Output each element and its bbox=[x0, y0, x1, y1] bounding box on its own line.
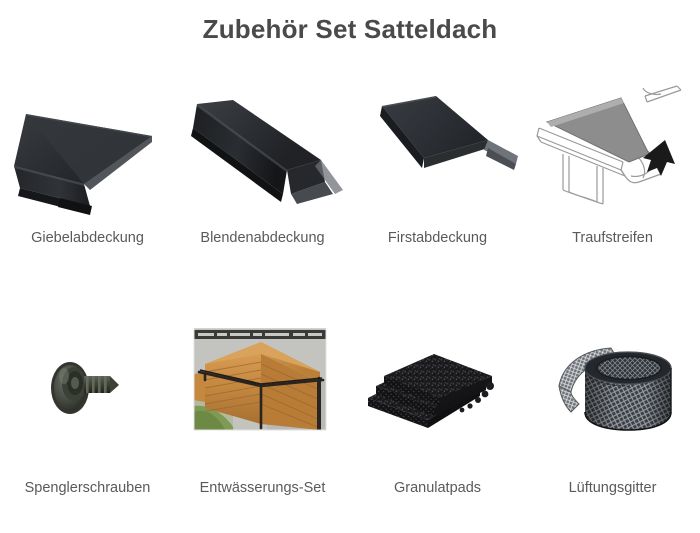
product-cell-traufstreifen[interactable]: Traufstreifen bbox=[525, 78, 700, 283]
product-cell-giebelabdeckung[interactable]: Giebelabdeckung bbox=[0, 78, 175, 283]
eaves-strip-diagram bbox=[525, 78, 700, 228]
product-cell-lueftungsgitter[interactable]: Lüftungsgitter bbox=[525, 328, 700, 533]
product-label: Traufstreifen bbox=[525, 230, 700, 246]
ventilation-grille-image bbox=[525, 328, 700, 478]
product-cell-granulatpads[interactable]: Granulatpads bbox=[350, 328, 525, 533]
product-label: Lüftungsgitter bbox=[525, 480, 700, 496]
product-grid: Giebelabdeckung bbox=[0, 78, 700, 518]
page-title: Zubehör Set Satteldach bbox=[0, 14, 700, 45]
ridge-cover-image bbox=[350, 78, 525, 228]
drainage-set-photo bbox=[175, 328, 350, 478]
product-label: Entwässerungs-Set bbox=[175, 480, 350, 496]
product-label: Blendenabdeckung bbox=[175, 230, 350, 246]
product-cell-spenglerschrauben[interactable]: Spenglerschrauben bbox=[0, 328, 175, 533]
roofing-screw-image bbox=[0, 328, 175, 478]
product-label: Giebelabdeckung bbox=[0, 230, 175, 246]
product-cell-entwaesserungs-set[interactable]: Entwässerungs-Set bbox=[175, 328, 350, 533]
fascia-cover-image bbox=[175, 78, 350, 228]
product-cell-firstabdeckung[interactable]: Firstabdeckung bbox=[350, 78, 525, 283]
granulate-pads-image bbox=[350, 328, 525, 478]
product-label: Granulatpads bbox=[350, 480, 525, 496]
product-label: Spenglerschrauben bbox=[0, 480, 175, 496]
product-label: Firstabdeckung bbox=[350, 230, 525, 246]
product-cell-blendenabdeckung[interactable]: Blendenabdeckung bbox=[175, 78, 350, 283]
gable-cover-image bbox=[0, 78, 175, 228]
accessory-set-page: Zubehör Set Satteldach bbox=[0, 0, 700, 525]
